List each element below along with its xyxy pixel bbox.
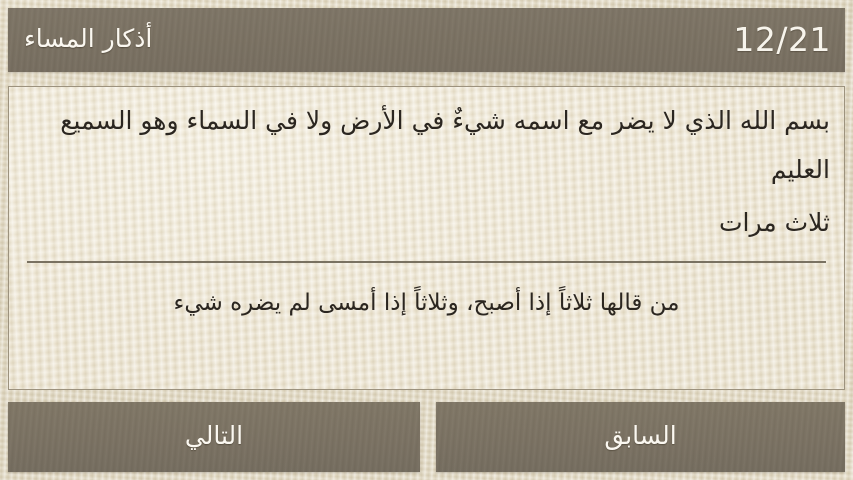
previous-button-label: السابق [604, 423, 676, 451]
dhikr-text: بسم الله الذي لا يضر مع اسمه شيءٌ في الأ… [23, 93, 830, 195]
app-header-bar: 12/21 أذكار المساء [8, 8, 845, 72]
dhikr-repeat-count: ثلاث مرات [23, 195, 830, 243]
content-divider [27, 261, 826, 263]
page-title: أذكار المساء [24, 26, 152, 54]
dhikr-counter: 12/21 [733, 23, 831, 58]
dhikr-content-panel: بسم الله الذي لا يضر مع اسمه شيءٌ في الأ… [8, 86, 845, 390]
azkar-app-screen: 12/21 أذكار المساء بسم الله الذي لا يضر … [0, 0, 853, 480]
previous-button[interactable]: السابق [436, 402, 845, 472]
dhikr-virtue-note: من قالها ثلاثاً إذا أصبح، وثلاثاً إذا أم… [23, 263, 830, 322]
next-button-label: التالي [185, 423, 243, 451]
next-button[interactable]: التالي [8, 402, 420, 472]
navigation-footer: التالي السابق [8, 402, 845, 472]
